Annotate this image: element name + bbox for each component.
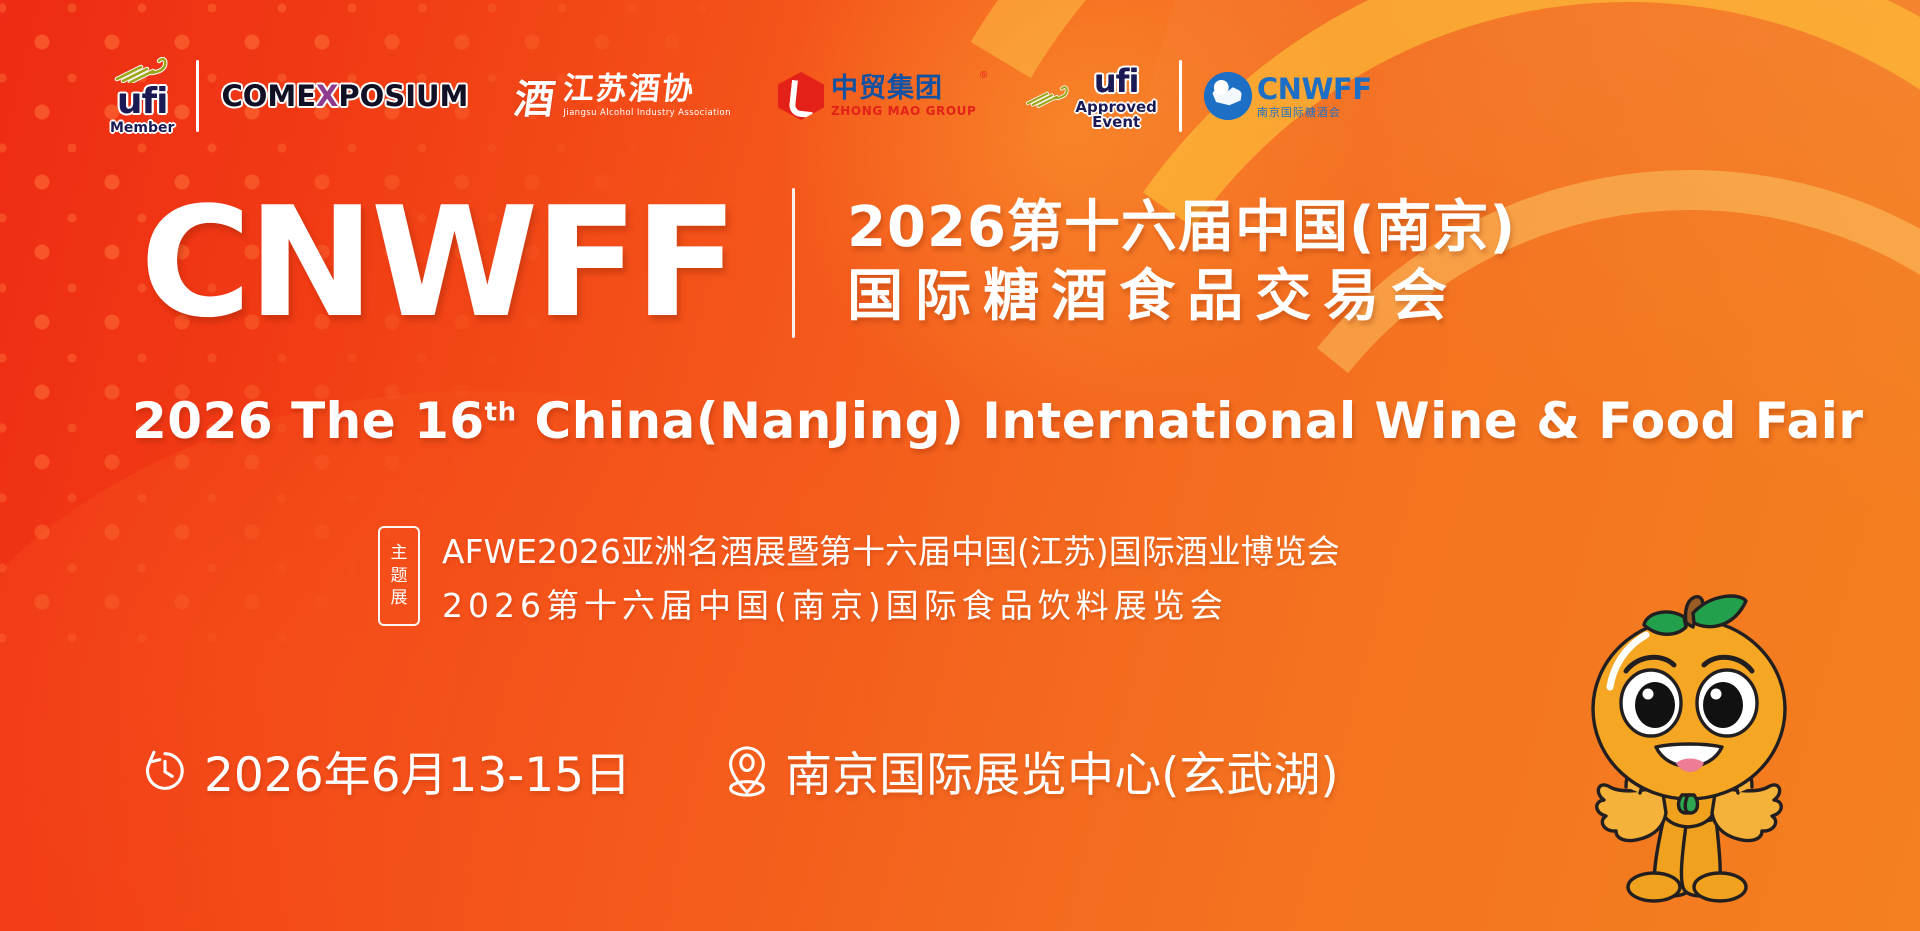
subtitle-english: 2026 The 16th China(NanJing) Internation… bbox=[132, 392, 1864, 450]
logo-comexposium: COME X POSIUM bbox=[221, 52, 468, 140]
title-cn-line-2: 国际糖酒食品交易会 bbox=[847, 266, 1516, 329]
ufi-approved-wing-icon bbox=[1023, 84, 1073, 108]
logo-divider-2 bbox=[1179, 60, 1182, 132]
ufi-approved-line2: Event bbox=[1092, 115, 1140, 130]
orange-mascot bbox=[1564, 587, 1894, 931]
comexposium-part2: POSIUM bbox=[338, 79, 468, 113]
clock-icon bbox=[140, 746, 190, 796]
theme-lines: AFWE2026亚洲名酒展暨第十六届中国(江苏)国际酒业博览会 2026第十六届… bbox=[442, 525, 1340, 627]
subtitle-en-pre: 2026 The 16 bbox=[132, 392, 485, 450]
event-info-row: 2026年6月13-15日 南京国际展览中心(玄武湖) bbox=[140, 736, 1339, 805]
theme-badge-char-1: 主 bbox=[391, 542, 408, 564]
ufi-wing-icon bbox=[111, 57, 173, 83]
zhongmao-mark-icon bbox=[778, 72, 824, 120]
ufi-approved-wordmark: ufi bbox=[1094, 62, 1139, 100]
cnwff-roundel-main: CNWFF bbox=[1257, 75, 1372, 104]
logo-ufi-approved-event: ufi Approved Event bbox=[1023, 52, 1156, 140]
event-venue-text: 南京国际展览中心(玄武湖) bbox=[785, 736, 1339, 805]
logo-divider-1 bbox=[196, 60, 199, 132]
theme-line-2: 2026第十六届中国(南京)国际食品饮料展览会 bbox=[442, 579, 1340, 627]
event-banner: ufi Member COME X POSIUM 酒 江苏酒协 Jiangsu … bbox=[0, 0, 1920, 931]
title-cn-line-1: 2026第十六届中国(南京) bbox=[847, 197, 1516, 260]
event-venue-item: 南京国际展览中心(玄武湖) bbox=[723, 736, 1339, 805]
logo-jiangsu-alcohol-association: 酒 江苏酒协 Jiangsu Alcohol Industry Associat… bbox=[515, 52, 731, 140]
logo-zhongmao-group: 中贸集团 ZHONG MAO GROUP ® bbox=[778, 52, 976, 140]
comexposium-x-icon: X bbox=[316, 79, 338, 113]
theme-line-1: AFWE2026亚洲名酒展暨第十六届中国(江苏)国际酒业博览会 bbox=[442, 525, 1340, 573]
theme-badge-char-2: 题 bbox=[391, 565, 408, 587]
location-pin-icon bbox=[723, 744, 771, 798]
cnwff-wordmark: CNWFF bbox=[140, 193, 734, 333]
jiangsu-en-name: Jiangsu Alcohol Industry Association bbox=[563, 109, 731, 118]
theme-badge-char-3: 展 bbox=[391, 587, 408, 609]
comexposium-part1: COME bbox=[221, 79, 316, 113]
title-divider bbox=[792, 188, 795, 338]
jiangsu-seal-glyph: 酒 bbox=[511, 67, 559, 125]
partner-logo-bar: ufi Member COME X POSIUM 酒 江苏酒协 Jiangsu … bbox=[110, 52, 1372, 140]
subtitle-en-ordinal: th bbox=[485, 397, 517, 427]
ufi-wordmark: ufi bbox=[117, 84, 168, 120]
main-title-row: CNWFF 2026第十六届中国(南京) 国际糖酒食品交易会 bbox=[140, 188, 1516, 338]
zhongmao-cn-name: 中贸集团 bbox=[831, 75, 976, 102]
logo-cnwff-roundel: CNWFF 南京国际糖酒会 bbox=[1204, 52, 1372, 140]
zhongmao-en-name: ZHONG MAO GROUP bbox=[831, 105, 976, 117]
theme-exhibition-row: 主 题 展 AFWE2026亚洲名酒展暨第十六届中国(江苏)国际酒业博览会 20… bbox=[378, 525, 1340, 627]
ufi-member-label: Member bbox=[110, 121, 174, 135]
cnwff-roundel-sub: 南京国际糖酒会 bbox=[1257, 107, 1372, 118]
theme-badge: 主 题 展 bbox=[378, 526, 420, 626]
title-chinese-block: 2026第十六届中国(南京) 国际糖酒食品交易会 bbox=[847, 197, 1516, 328]
cnwff-globe-icon bbox=[1204, 72, 1252, 120]
jiangsu-cn-name: 江苏酒协 bbox=[562, 74, 733, 105]
zhongmao-registered-mark: ® bbox=[980, 71, 987, 81]
event-date-item: 2026年6月13-15日 bbox=[140, 736, 631, 805]
event-date-text: 2026年6月13-15日 bbox=[204, 736, 631, 805]
logo-ufi-member: ufi Member bbox=[110, 52, 174, 140]
subtitle-en-post: China(NanJing) International Wine & Food… bbox=[517, 392, 1864, 450]
